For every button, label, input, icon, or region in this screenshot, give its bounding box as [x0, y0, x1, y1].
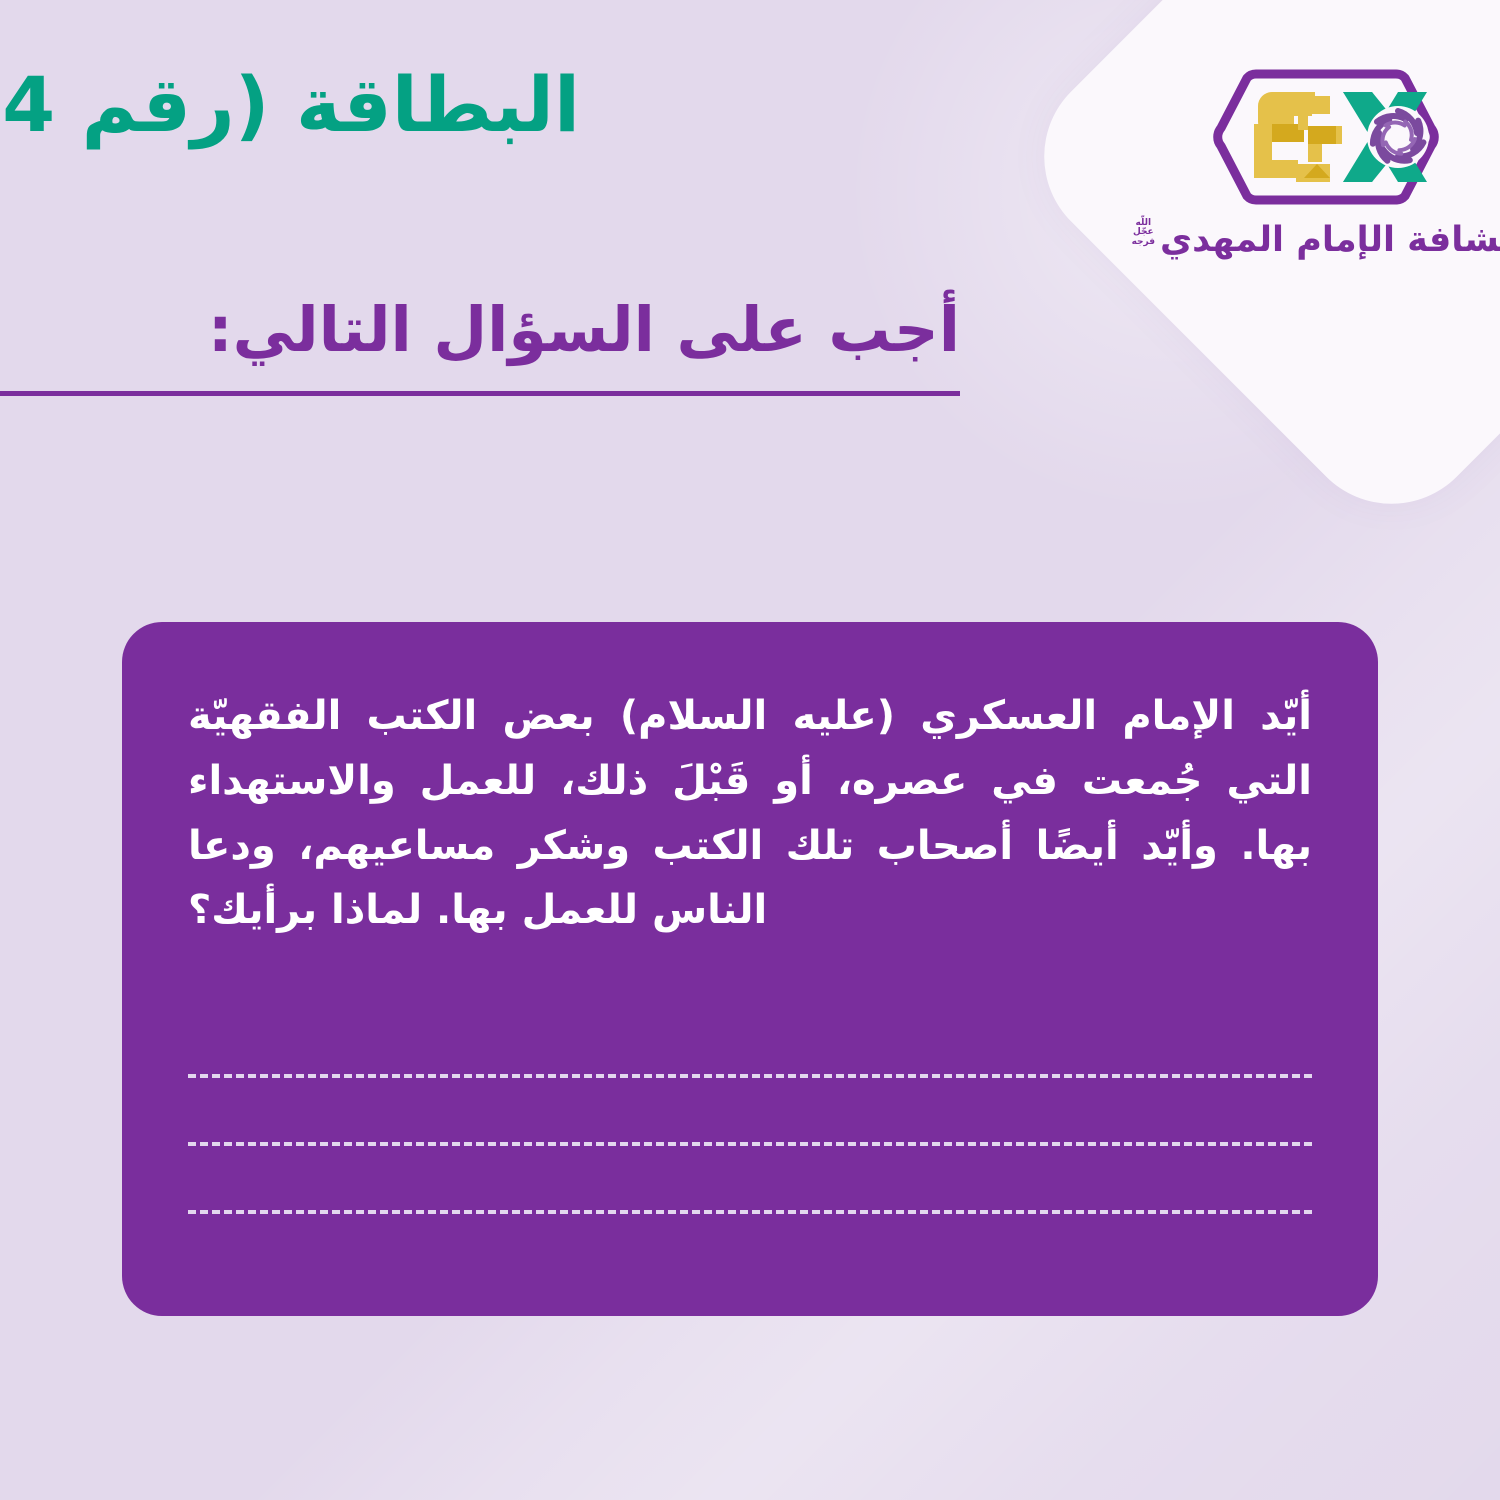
- logo-organization-name: كشافة الإمام المهدي: [1160, 223, 1500, 258]
- brand-logo: كشافة الإمام المهدي اللّه عجّل فرجه: [1176, 68, 1476, 288]
- question-card: أيّد الإمام العسكري (عليه السلام) بعض ال…: [122, 622, 1378, 1316]
- question-text: أيّد الإمام العسكري (عليه السلام) بعض ال…: [188, 684, 1312, 943]
- instruction-heading: أجب على السؤال التالي:: [540, 296, 960, 364]
- answer-line[interactable]: [188, 1210, 1312, 1214]
- honorific-line-3: فرجه: [1132, 237, 1155, 247]
- card-canvas: كشافة الإمام المهدي اللّه عجّل فرجه البط…: [0, 0, 1500, 1500]
- answer-lines: [188, 1074, 1312, 1214]
- scouts-hexagon-emblem-icon: [1212, 68, 1440, 206]
- page-title: البطاقة (رقم 4): [20, 62, 580, 147]
- logo-wordmark: كشافة الإمام المهدي اللّه عجّل فرجه: [1190, 212, 1462, 268]
- logo-honorific-mark: اللّه عجّل فرجه: [1132, 219, 1155, 247]
- instruction-underline: [0, 391, 960, 396]
- answer-line[interactable]: [188, 1074, 1312, 1078]
- answer-line[interactable]: [188, 1142, 1312, 1146]
